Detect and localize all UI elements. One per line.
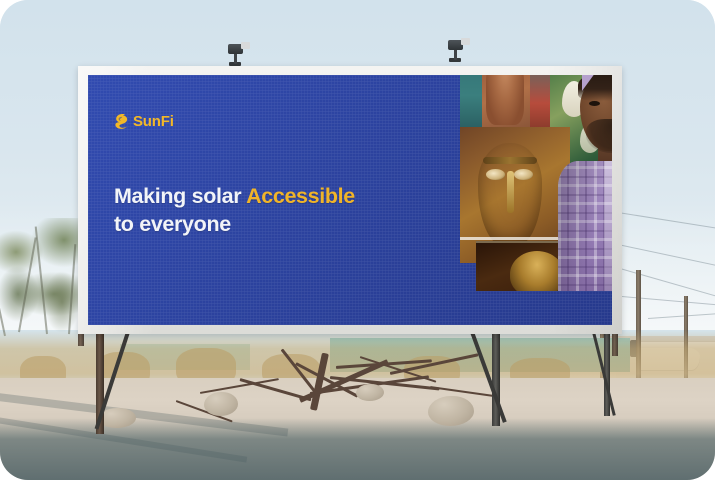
mask-brow (483, 157, 537, 164)
headline-line1-lead: Making solar (114, 184, 246, 208)
person-subject (552, 75, 612, 291)
sunfi-swirl-icon (114, 113, 129, 130)
person-plaid-shirt (558, 161, 612, 291)
billboard-photo-content (460, 75, 612, 291)
billboard-headline: Making solar Accessible to everyone (114, 182, 394, 239)
billboard-photo-scene: SunFi Making solar Accessible to everyon… (0, 0, 715, 480)
mask-eye-left (486, 169, 505, 180)
person-eye-left (589, 101, 600, 106)
ground-shadow (0, 418, 715, 480)
billboard-face[interactable]: SunFi Making solar Accessible to everyon… (88, 75, 612, 325)
artwork-portrait-teal-left (460, 75, 482, 129)
floodlight-hood (461, 38, 470, 45)
shirt-collar-right (608, 75, 612, 91)
floodlight-hood (241, 42, 250, 49)
sunfi-logo[interactable]: SunFi (114, 113, 394, 130)
billboard[interactable]: SunFi Making solar Accessible to everyon… (78, 66, 622, 334)
headline-line2: to everyone (114, 212, 231, 236)
artwork-portrait-figure (486, 75, 524, 125)
shirt-shading (558, 161, 612, 291)
person-beard (586, 119, 612, 153)
sunfi-logo-text: SunFi (133, 114, 174, 129)
artwork-portrait-teal-right (530, 75, 550, 129)
shirt-collar-left (582, 75, 598, 91)
rock (356, 384, 384, 401)
mask-eye-right (514, 169, 533, 180)
headline-accent-word: Accessible (246, 184, 355, 208)
billboard-copy: SunFi Making solar Accessible to everyon… (114, 113, 394, 239)
rock (428, 396, 474, 426)
mask-nose (507, 171, 514, 213)
rock (204, 392, 238, 416)
